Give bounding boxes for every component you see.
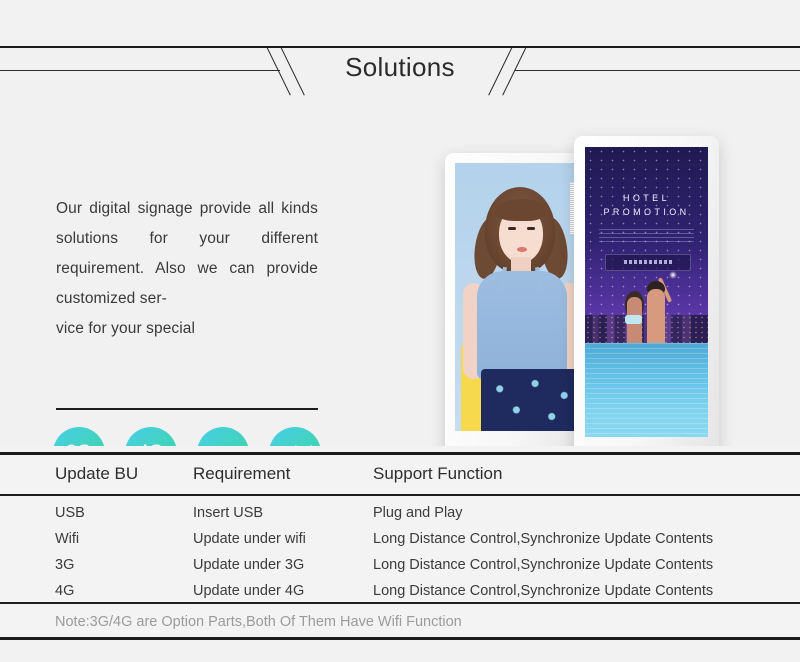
hotel-title-line1: HOTEL — [623, 193, 670, 203]
table-note: Note:3G/4G are Option Parts,Both Of Them… — [55, 614, 462, 630]
woman-portrait-image — [455, 163, 586, 431]
hero-section: Solutions Our digital signage provide al… — [0, 48, 800, 446]
column-header-requirement: Requirement — [193, 464, 290, 484]
cell-update-bu: 4G — [55, 583, 74, 599]
badge-usb[interactable]: USB — [197, 427, 249, 446]
connectivity-badges: 3G 4G USB WiFi — [53, 427, 318, 446]
table-note-divider — [0, 602, 800, 604]
signage-display-right: HOTEL PROMOTION YOUR LOGO — [574, 136, 719, 446]
cell-update-bu: USB — [55, 505, 85, 521]
table-row: Wifi Update under wifi Long Distance Con… — [0, 531, 800, 556]
product-images: YOUR LOGO HOTEL PROMOTION — [430, 98, 730, 446]
page-title: Solutions — [0, 52, 800, 83]
cell-requirement: Update under wifi — [193, 531, 306, 547]
left-display-screen — [455, 163, 586, 431]
badge-wifi[interactable]: WiFi — [269, 427, 321, 446]
cell-support-function: Long Distance Control,Synchronize Update… — [373, 531, 713, 547]
cell-requirement: Update under 3G — [193, 557, 304, 573]
solutions-page: Solutions Our digital signage provide al… — [0, 0, 800, 662]
table-row: 4G Update under 4G Long Distance Control… — [0, 583, 800, 608]
pool-water — [585, 343, 708, 437]
badge-4g[interactable]: 4G — [125, 427, 177, 446]
cell-requirement: Insert USB — [193, 505, 263, 521]
intro-paragraph: Our digital signage provide all kinds so… — [56, 194, 318, 314]
support-table: Update BU Requirement Support Function U… — [0, 455, 800, 637]
footer-area — [0, 640, 800, 662]
hotel-subtext — [599, 229, 694, 245]
right-display-screen: HOTEL PROMOTION — [585, 147, 708, 437]
hotel-title-line2: PROMOTION — [603, 207, 689, 217]
column-header-support-function: Support Function — [373, 464, 502, 484]
table-row: 3G Update under 3G Long Distance Control… — [0, 557, 800, 582]
cell-support-function: Long Distance Control,Synchronize Update… — [373, 557, 713, 573]
column-header-update-bu: Update BU — [55, 464, 138, 484]
intro-paragraph-tail: vice for your special — [56, 314, 318, 344]
cell-support-function: Plug and Play — [373, 505, 462, 521]
badge-3g[interactable]: 3G — [53, 427, 105, 446]
intro-text: Our digital signage provide all kinds so… — [56, 194, 318, 344]
cell-update-bu: Wifi — [55, 531, 79, 547]
table-header-row: Update BU Requirement Support Function — [0, 455, 800, 493]
hotel-cta-button — [605, 254, 691, 271]
table-row: USB Insert USB Plug and Play — [0, 505, 800, 530]
table-header-divider — [0, 494, 800, 496]
cell-support-function: Long Distance Control,Synchronize Update… — [373, 583, 713, 599]
cell-update-bu: 3G — [55, 557, 74, 573]
cell-requirement: Update under 4G — [193, 583, 304, 599]
hotel-promotion-image: HOTEL PROMOTION — [585, 147, 708, 437]
speaker-grille-icon — [570, 182, 574, 234]
section-header: Solutions — [0, 48, 800, 102]
hotel-promotion-title: HOTEL PROMOTION — [585, 191, 708, 219]
intro-divider — [56, 408, 318, 410]
sparkle-icon — [669, 271, 677, 279]
